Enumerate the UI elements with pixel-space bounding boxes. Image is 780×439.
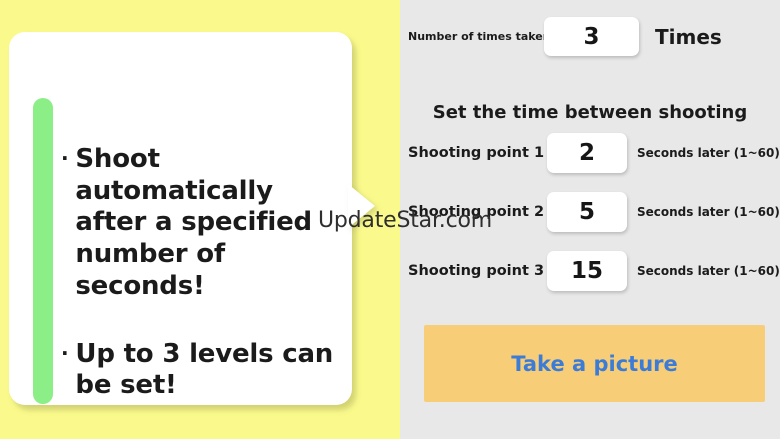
promo-bullet-2: · Up to 3 levels can be set! <box>61 339 351 402</box>
times-taken-label: Number of times taken <box>408 30 538 43</box>
times-taken-input[interactable]: 3 <box>544 17 639 56</box>
watermark-text: UpdateStar.com <box>318 208 492 233</box>
shooting-point-3-row: Shooting point 3 15 Seconds later (1~60) <box>408 251 780 291</box>
promo-bullet-list: · Shoot automatically after a specified … <box>61 144 351 402</box>
promo-bullet-1: · Shoot automatically after a specified … <box>61 144 351 303</box>
app-screenshot: · Shoot automatically after a specified … <box>0 0 780 439</box>
section-title: Set the time between shooting <box>400 102 780 123</box>
shooting-point-1-unit: Seconds later (1~60) <box>637 146 780 160</box>
shooting-point-2-input[interactable]: 5 <box>547 192 627 232</box>
promo-bullet-2-text: Up to 3 levels can be set! <box>75 339 351 402</box>
promo-bullet-1-text: Shoot automatically after a specified nu… <box>75 144 351 303</box>
shooting-point-3-label: Shooting point 3 <box>408 263 538 279</box>
bullet-dot-icon: · <box>61 144 68 172</box>
shooting-point-1-row: Shooting point 1 2 Seconds later (1~60) <box>408 133 780 173</box>
times-taken-row: Number of times taken 3 Times <box>408 17 722 56</box>
shooting-point-1-label: Shooting point 1 <box>408 145 538 161</box>
take-picture-button[interactable]: Take a picture <box>424 325 765 402</box>
times-taken-unit: Times <box>655 25 722 49</box>
accent-bar <box>33 98 53 404</box>
shooting-point-3-input[interactable]: 15 <box>547 251 627 291</box>
bullet-dot-icon: · <box>61 339 68 367</box>
shooting-point-3-unit: Seconds later (1~60) <box>637 264 780 278</box>
promo-card: · Shoot automatically after a specified … <box>9 32 352 405</box>
shooting-point-1-input[interactable]: 2 <box>547 133 627 173</box>
shooting-point-2-unit: Seconds later (1~60) <box>637 205 780 219</box>
